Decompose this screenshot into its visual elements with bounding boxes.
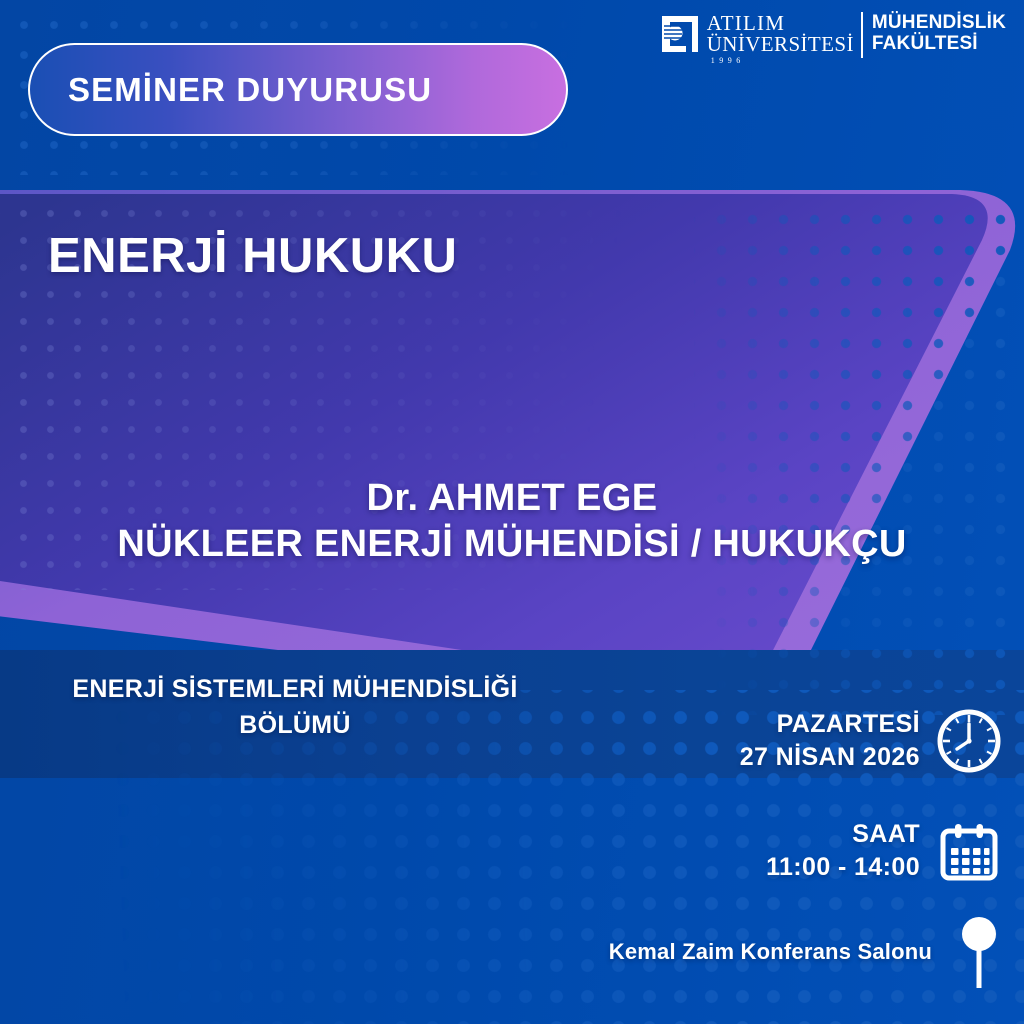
location-row: Kemal Zaim Konferans Salonu <box>609 912 1002 992</box>
time-row: SAAT 11:00 - 14:00 <box>766 818 1002 884</box>
seminar-title: ENERJİ HUKUKU <box>48 228 457 284</box>
university-logo: ATILIM ÜNİVERSİTESİ 1996 MÜHENDİSLİK FAK… <box>660 12 1006 66</box>
faculty-name-line1: MÜHENDİSLİK <box>872 13 1006 34</box>
seminar-announcement-poster: SEMİNER DUYURUSU ATILIM ÜNİVERSİTESİ 199… <box>0 0 1024 1024</box>
date-text-group: PAZARTESİ 27 NİSAN 2026 <box>740 708 920 774</box>
date-value: 27 NİSAN 2026 <box>740 741 920 774</box>
faculty-name-line2: FAKÜLTESİ <box>872 34 978 55</box>
department-info: ENERJİ SİSTEMLERİ MÜHENDİSLİĞİ BÖLÜMÜ <box>0 672 590 743</box>
calendar-icon <box>936 818 1002 884</box>
university-name-line2: ÜNİVERSİTESİ <box>707 34 854 55</box>
speaker-info: Dr. AHMET EGE NÜKLEER ENERJİ MÜHENDİSİ /… <box>0 478 1024 567</box>
university-founding-year: 1996 <box>711 56 745 65</box>
logo-divider <box>861 12 863 58</box>
university-name: ATILIM ÜNİVERSİTESİ <box>707 12 854 55</box>
department-line1: ENERJİ SİSTEMLERİ MÜHENDİSLİĞİ <box>0 672 590 708</box>
university-name-line1: ATILIM <box>707 13 785 34</box>
clock-icon <box>936 708 1002 774</box>
faculty-name: MÜHENDİSLİK FAKÜLTESİ <box>872 12 1006 54</box>
time-text-group: SAAT 11:00 - 14:00 <box>766 818 920 884</box>
speaker-name: Dr. AHMET EGE <box>0 478 1024 519</box>
date-row: PAZARTESİ 27 NİSAN 2026 <box>740 708 1002 774</box>
atilim-emblem-icon <box>660 12 700 56</box>
seminar-announcement-badge: SEMİNER DUYURUSU <box>28 43 568 136</box>
date-day-name: PAZARTESİ <box>740 708 920 741</box>
time-value: 11:00 - 14:00 <box>766 851 920 884</box>
time-label: SAAT <box>766 818 920 851</box>
speaker-role: NÜKLEER ENERJİ MÜHENDİSİ / HUKUKÇU <box>0 521 1024 567</box>
department-line2: BÖLÜMÜ <box>0 708 590 744</box>
location-pin-icon <box>956 912 1002 992</box>
location-venue: Kemal Zaim Konferans Salonu <box>609 939 932 965</box>
badge-label: SEMİNER DUYURUSU <box>68 71 432 109</box>
